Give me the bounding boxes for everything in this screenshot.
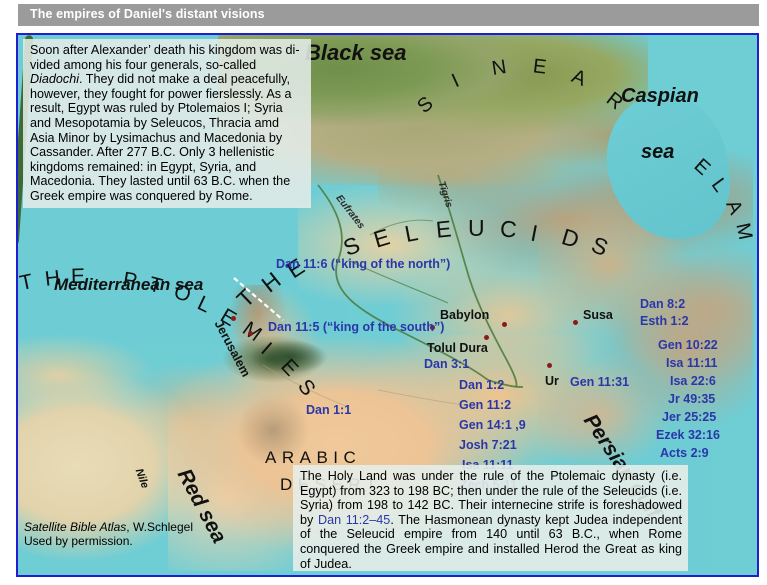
- credit-permission: Used by permission.: [24, 534, 133, 548]
- ref-dan-1-1[interactable]: Dan 1:1: [306, 403, 351, 417]
- ref-dan-1-2[interactable]: Dan 1:2: [459, 378, 504, 392]
- window-title-bar: The empires of Daniel's distant visions: [18, 4, 759, 26]
- map-canvas: Black sea Caspian sea Mediterranean sea …: [18, 35, 753, 571]
- top-note-line2b: .: [79, 72, 83, 86]
- ref-jr-49-35[interactable]: Jr 49:35: [668, 392, 715, 406]
- ref-jer-25-25[interactable]: Jer 25:25: [662, 410, 716, 424]
- credit-source-author: , W.Schlegel: [126, 520, 193, 534]
- black-sea-label: Black sea: [305, 40, 407, 66]
- ref-esth-1-2[interactable]: Esth 1:2: [640, 314, 689, 328]
- ref-gen-11-2[interactable]: Gen 11:2: [459, 398, 511, 412]
- caspian-sea-label-line1: Caspian: [621, 85, 699, 108]
- credit-block: Satellite Bible Atlas, W.Schlegel Used b…: [24, 520, 193, 548]
- map-dot-extra: [248, 331, 253, 336]
- ref-gen-10-22[interactable]: Gen 10:22: [658, 338, 718, 352]
- city-tolul-dura-label: Tolul Dura: [427, 341, 488, 355]
- ref-acts-2-9[interactable]: Acts 2:9: [660, 446, 709, 460]
- city-babylon-dot-2: [484, 335, 489, 340]
- ref-josh-7-21[interactable]: Josh 7:21: [459, 438, 517, 452]
- ref-gen-14-1-9[interactable]: Gen 14:1 ,9: [459, 418, 526, 432]
- map-figure: Black sea Caspian sea Mediterranean sea …: [16, 33, 759, 577]
- ref-ezek-32-16[interactable]: Ezek 32:16: [656, 428, 720, 442]
- city-babylon-dot: [502, 322, 507, 327]
- ref-gen-11-31[interactable]: Gen 11:31: [570, 375, 629, 389]
- caspian-sea-label-line2: sea: [641, 141, 674, 164]
- city-jerusalem-dot: [231, 316, 236, 321]
- city-susa-label: Susa: [583, 308, 613, 322]
- top-note-diadochi: Diadochi: [30, 72, 79, 86]
- credit-source-title: Satellite Bible Atlas: [24, 520, 126, 534]
- ref-dan-3-1[interactable]: Dan 3:1: [424, 357, 469, 371]
- top-note-line2a: vided among his four generals, so-called: [30, 58, 256, 72]
- ref-dan-11-6[interactable]: Dan 11:6 (“king of the north”): [276, 257, 450, 271]
- top-note-line1: Soon after Alexander’ death his kingdom …: [30, 43, 300, 57]
- ref-isa-22-6[interactable]: Isa 22:6: [670, 374, 716, 388]
- ref-dan-8-2[interactable]: Dan 8:2: [640, 297, 685, 311]
- bottom-note-box: The Holy Land was under the rule of the …: [293, 465, 688, 571]
- city-ur-dot: [547, 363, 552, 368]
- city-babylon-label: Babylon: [440, 308, 489, 322]
- window-title: The empires of Daniel's distant visions: [30, 7, 265, 21]
- ref-isa-11-11-right[interactable]: Isa 11:11: [666, 356, 717, 370]
- bottom-note-link-dan-11-2-45[interactable]: Dan 11:2–45: [318, 513, 390, 527]
- city-susa-dot: [573, 320, 578, 325]
- top-note-rest: They did not make a deal peacefully, how…: [30, 72, 292, 203]
- city-ur-label: Ur: [545, 374, 559, 388]
- ref-dan-11-5[interactable]: Dan 11:5 (“king of the south”): [268, 320, 444, 334]
- top-note-box: Soon after Alexander’ death his kingdom …: [23, 39, 311, 208]
